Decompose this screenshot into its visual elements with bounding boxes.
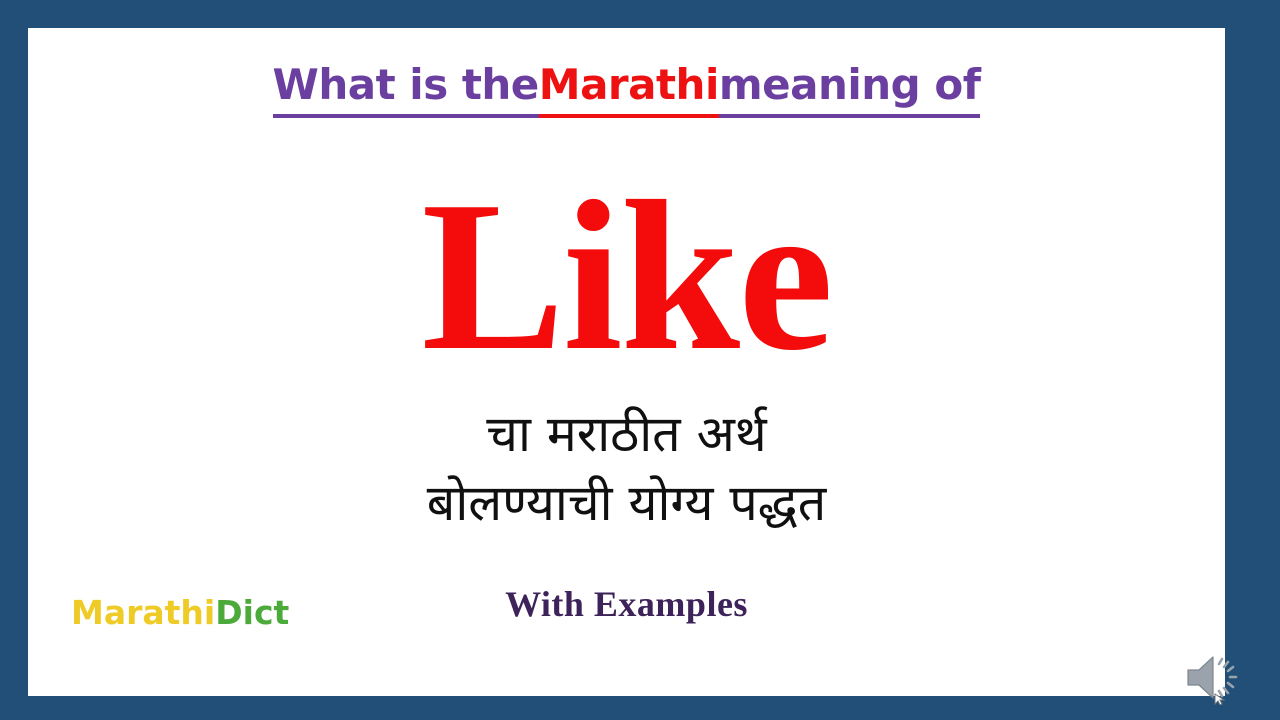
devanagari-line-meaning: चा मराठीत अर्थ [28,400,1225,469]
heading-block: What is the Marathi meaning of [28,61,1225,118]
slide-frame: What is the Marathi meaning of Like चा म… [0,0,1280,720]
brand-logo-part-dict: Dict [215,593,289,632]
devanagari-block: चा मराठीत अर्थ बोलण्याची योग्य पद्धत [28,400,1225,538]
speaker-icon[interactable] [1185,650,1247,705]
heading-segment-prefix: What is the [273,61,539,118]
brand-logo: MarathiDict [71,593,289,632]
headword-text: Like [28,168,1225,383]
slide-canvas: What is the Marathi meaning of Like चा म… [28,28,1225,696]
heading-segment-marathi: Marathi [539,61,719,118]
devanagari-line-pronunciation: बोलण्याची योग्य पद्धत [28,469,1225,538]
heading-segment-suffix: meaning of [719,61,981,118]
brand-logo-part-marathi: Marathi [71,593,215,632]
heading-text: What is the Marathi meaning of [273,61,981,118]
